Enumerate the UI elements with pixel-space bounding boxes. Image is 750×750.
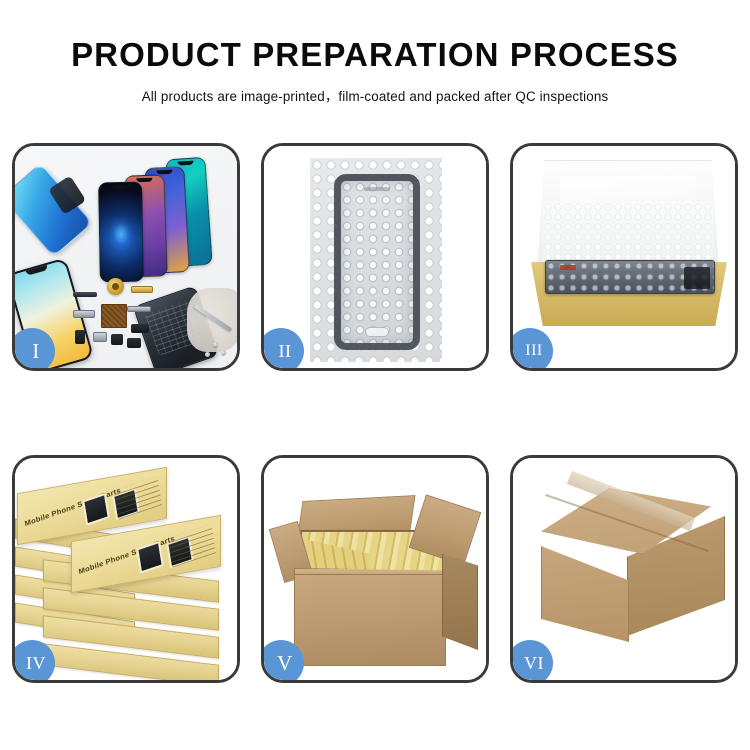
wrapped-screen-icon [334, 174, 420, 350]
bubble-wrap-icon [310, 158, 442, 362]
earpiece-slot-icon [364, 187, 390, 191]
vibration-motor-icon [107, 278, 124, 295]
step-badge-5: V [261, 640, 304, 683]
home-button-icon [365, 327, 389, 337]
phone-fan-group [77, 156, 237, 278]
step-badge-1: I [12, 328, 55, 371]
process-step-panel-4[interactable]: Mobile Phone Spare Parts Mobile Phone Sp… [12, 455, 240, 683]
product-label-icon [560, 265, 576, 270]
process-step-grid: I II [12, 143, 738, 683]
box-spec-lines [168, 524, 216, 567]
logic-board-icon [101, 304, 127, 328]
process-step-panel-2[interactable]: II [261, 143, 489, 371]
carton-front-face [294, 574, 446, 666]
carton-side-face [442, 554, 478, 650]
sim-tray-icon [75, 330, 85, 344]
box-spec-lines [114, 476, 162, 519]
packed-product-icon [545, 260, 715, 294]
page-title: PRODUCT PREPARATION PROCESS [0, 36, 750, 74]
page-subtitle: All products are image-printed，film-coat… [0, 85, 750, 105]
process-step-panel-1[interactable]: I [12, 143, 240, 371]
box-stack-group: Mobile Phone Spare Parts Mobile Phone Sp… [15, 474, 237, 674]
process-step-panel-3[interactable]: III [510, 143, 738, 371]
screw-icon [221, 350, 226, 355]
screw-icon [213, 342, 218, 347]
earpiece-speaker-icon [73, 292, 97, 297]
camera-module-icon [131, 324, 149, 333]
flex-cable-icon [131, 286, 153, 293]
screw-icon [205, 352, 210, 357]
step-badge-3: III [510, 328, 553, 371]
product-preparation-page: PRODUCT PREPARATION PROCESS All products… [0, 0, 750, 750]
step-badge-4: IV [12, 640, 55, 683]
step-badge-2: II [261, 328, 304, 371]
battery-connector-icon [111, 334, 123, 345]
step-badge-6: VI [510, 640, 553, 683]
speaker-module-icon [127, 338, 141, 348]
button-flex-icon [93, 332, 107, 342]
header: PRODUCT PREPARATION PROCESS All products… [0, 0, 750, 105]
flex-cable-icon [127, 306, 151, 312]
phone-device-icon [98, 182, 144, 283]
process-step-panel-6[interactable]: VI [510, 455, 738, 683]
process-step-panel-5[interactable]: V [261, 455, 489, 683]
connector-icon [73, 310, 95, 318]
